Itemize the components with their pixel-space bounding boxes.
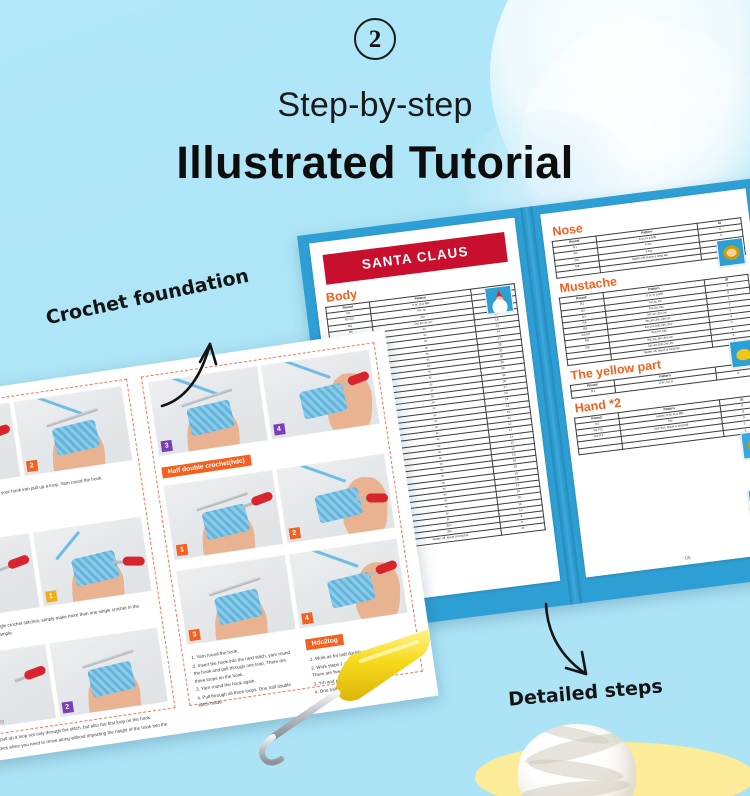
nose-figure-thumbnail (716, 237, 746, 267)
mustache-figure-thumbnail (729, 338, 750, 368)
step-badge: 4 (301, 612, 313, 624)
step-badge: 2 (25, 460, 37, 472)
tutorial-photo: 4 (289, 539, 407, 628)
step-badge: 2 (288, 527, 300, 539)
annotation-detailed-steps: Detailed steps (507, 675, 663, 710)
step-badge: 2 (61, 701, 73, 713)
yellow-part-thumbnail (740, 430, 750, 460)
poster-header: 2 Step-by-step Illustrated Tutorial (0, 0, 750, 189)
step-badge: 3 (160, 440, 172, 452)
tutorial-photo: 4 (261, 350, 379, 439)
annotation-crochet-foundation: Crochet foundation (44, 265, 251, 329)
crochet-hook-prop (233, 625, 433, 785)
tutorial-book-page-number: 09 (0, 719, 5, 726)
tutorial-photo (0, 645, 55, 734)
tutorial-photo (0, 534, 39, 623)
white-yarn-ball (518, 724, 636, 796)
tutorial-photo: 1 (164, 471, 282, 560)
tutorial-photo: 2 (276, 454, 394, 543)
step-number-badge: 2 (354, 18, 396, 60)
arrow-down-icon (530, 602, 620, 688)
step-badge: 3 (188, 629, 200, 641)
poster-subtitle: Step-by-step (0, 86, 750, 125)
poster-title: Illustrated Tutorial (0, 137, 750, 189)
tutorial-photo: 3 (149, 367, 267, 456)
step-badge: 1 (176, 544, 188, 556)
step-badge: 4 (273, 423, 285, 435)
tutorial-photo: 2 (49, 628, 167, 717)
step-badge: 1 (45, 591, 57, 603)
tutorial-photo: 2 (14, 387, 132, 476)
poster-canvas: 2 Step-by-step Illustrated Tutorial SANT… (0, 0, 750, 796)
santa-figure-thumbnail (484, 285, 514, 315)
tutorial-photo: 1 (33, 517, 151, 606)
